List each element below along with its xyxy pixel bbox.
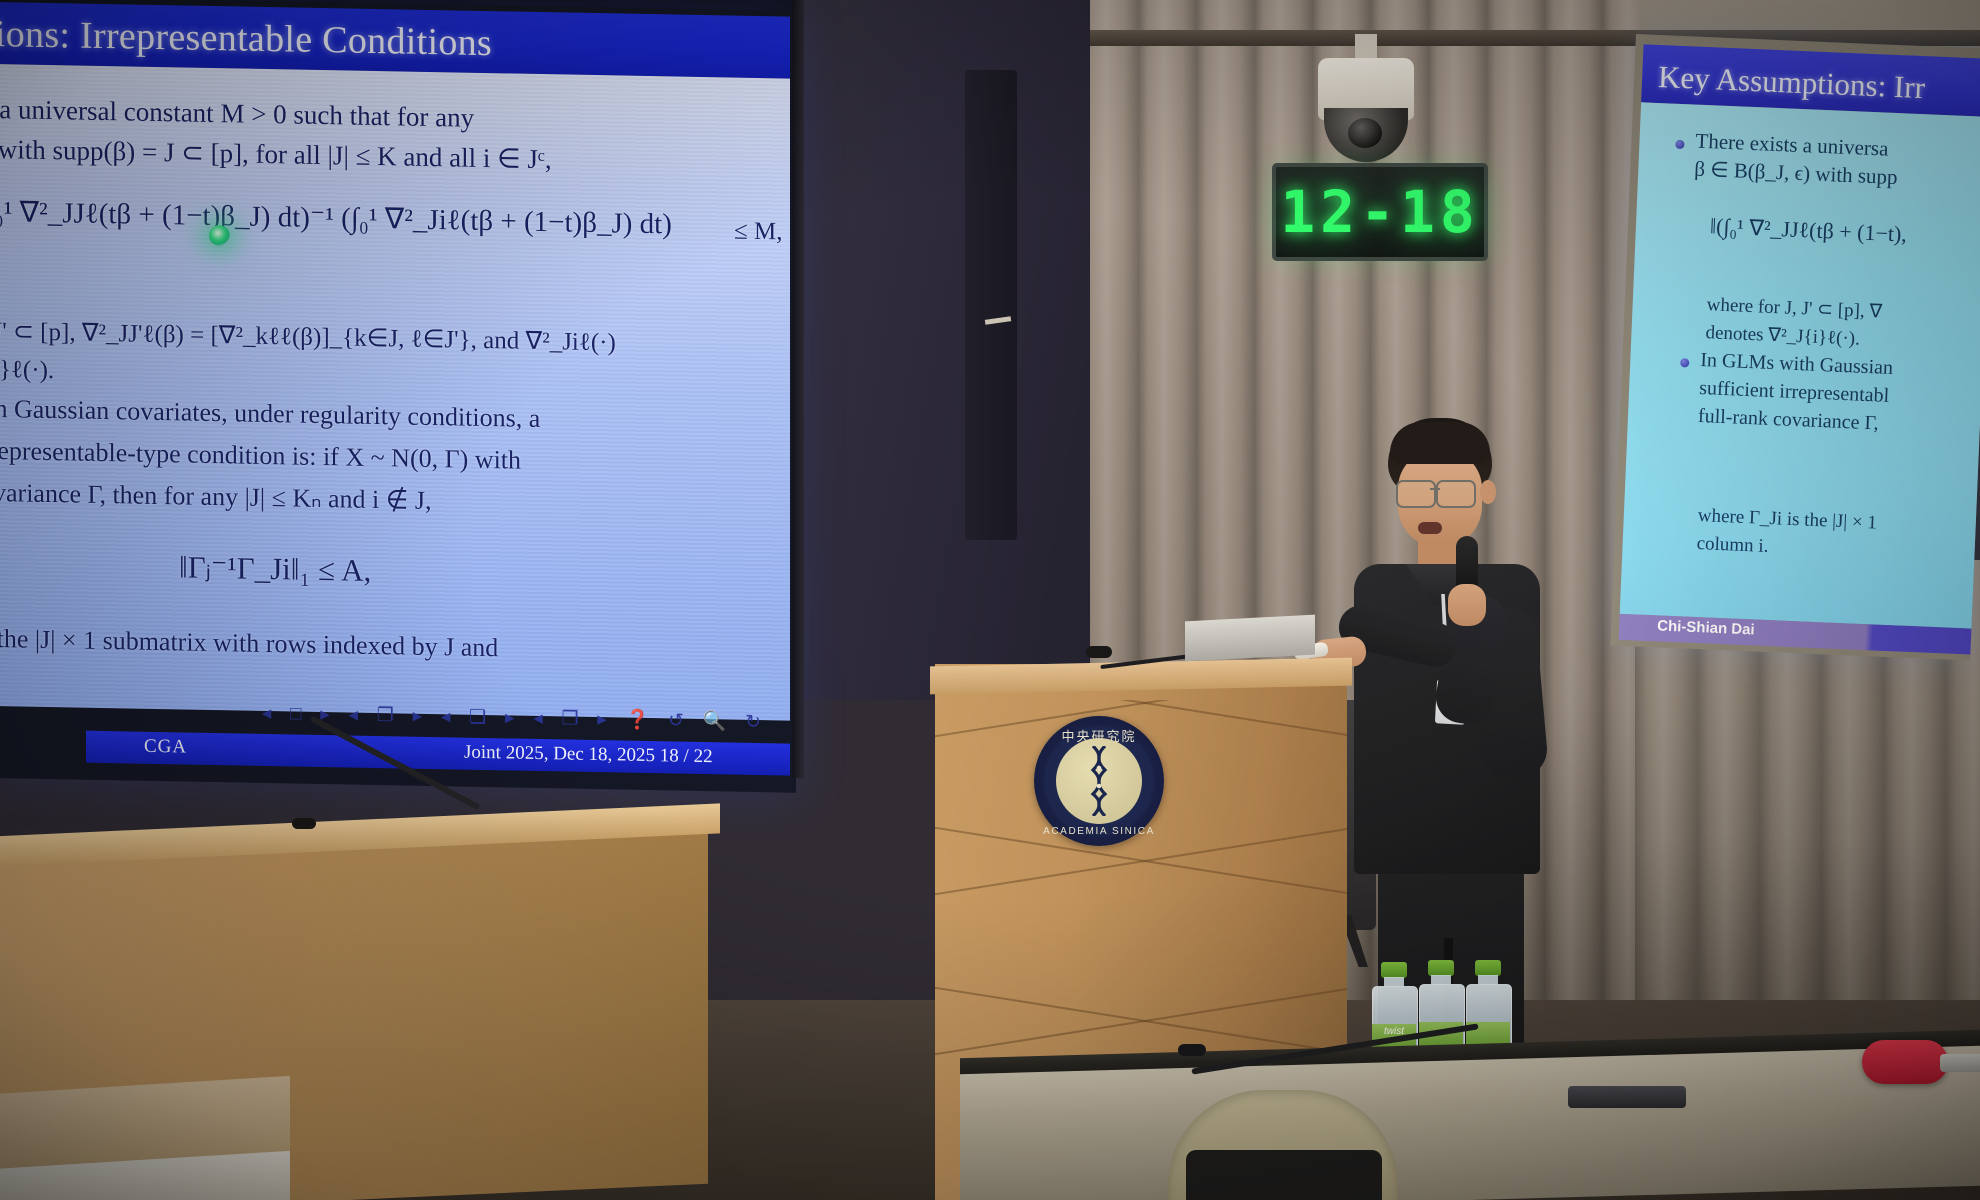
clock-digits: 12-18 xyxy=(1276,167,1484,257)
right-slide-b1-line-1: There exists a universa xyxy=(1695,129,1889,162)
bottle-cap-icon xyxy=(1381,962,1407,978)
right-slide-b2-line-3: full-rank covariance Γ, xyxy=(1698,405,1880,436)
right-slide-note-2: denotes ∇²_J{i}ℓ(·). xyxy=(1705,321,1860,350)
projection-screen-left-frame xyxy=(792,0,804,778)
right-slide-formula: ‖(∫₀¹ ∇²_JJℓ(tβ + (1−t), xyxy=(1709,213,1907,247)
emblem-latin-text: ACADEMIA SINICA xyxy=(1034,826,1164,837)
led-clock-display: 12-18 xyxy=(1272,163,1488,261)
left-slide-footer-right: Joint 2025, Dec 18, 2025 18 / 22 xyxy=(464,742,713,769)
emblem-inner-disc xyxy=(1056,738,1142,824)
right-slide-note-3: where Γ_Ji is the |J| × 1 xyxy=(1697,505,1877,534)
speaker-glasses-right-lens xyxy=(1436,480,1476,508)
left-slide-line-1: s a universal constant M > 0 such that f… xyxy=(0,94,474,134)
speaker-glasses-bridge xyxy=(1430,488,1440,490)
front-table-mic-head-icon xyxy=(1178,1044,1206,1056)
speaker-hair-front xyxy=(1390,422,1490,464)
water-bottle-2 xyxy=(1419,960,1463,1056)
wall-speaker-panel xyxy=(965,70,1017,540)
right-slide-bullet-icon-1 xyxy=(1675,140,1684,149)
projection-screen-right: Key Assumptions: Irr There exists a univ… xyxy=(1610,34,1980,661)
dna-helix-icon xyxy=(1090,746,1108,816)
bottle-cap-icon xyxy=(1475,960,1501,976)
left-slide-title: tions: Irrepresentable Conditions xyxy=(0,12,492,65)
left-slide-line-7: ovariance Γ, then for any |J| ≤ Kₙ and i… xyxy=(0,478,432,516)
left-slide-line-2: ) with supp(β) = J ⊂ [p], for all |J| ≤ … xyxy=(0,134,552,175)
right-slide-bullet-icon-2 xyxy=(1680,358,1689,367)
podium-mic-head-icon xyxy=(1086,646,1112,658)
left-slide-line-8: s the |J| × 1 submatrix with rows indexe… xyxy=(0,624,498,663)
left-slide-line-5: ith Gaussian covariates, under regularit… xyxy=(0,394,540,434)
left-slide-formula-2: ‖Γⱼ⁻¹Γ_Ji‖₁ ≤ A, xyxy=(179,549,371,589)
left-slide-body: s a universal constant M > 0 such that f… xyxy=(0,64,790,721)
speaker-mouth xyxy=(1418,522,1442,534)
right-slide-b1-line-2: β ∈ B(β_J, ϵ) with supp xyxy=(1694,157,1898,190)
right-slide-title: Key Assumptions: Irr xyxy=(1657,59,1925,106)
right-slide-b2-line-2: sufficient irrepresentabl xyxy=(1699,377,1890,408)
academia-sinica-emblem: 中央研究院 ACADEMIA SINICA xyxy=(1034,716,1164,846)
left-slide-line-6: rrepresentable-type condition is: if X ~… xyxy=(0,436,521,476)
left-slide-footer-left: CGA xyxy=(144,736,187,759)
right-slide-note-1: where for J, J' ⊂ [p], ∇ xyxy=(1706,293,1882,323)
front-table-mic-base xyxy=(1568,1086,1686,1108)
audience-chair-base xyxy=(1186,1150,1382,1200)
speaker-glasses-left-lens xyxy=(1396,480,1436,508)
bottle-cap-icon xyxy=(1428,960,1454,976)
left-slide-line-4: {i}ℓ(·). xyxy=(0,356,54,385)
speaker-left-hand xyxy=(1448,584,1486,626)
wall-dark-panel xyxy=(790,0,1090,700)
speaker-ear xyxy=(1480,480,1496,504)
water-bottle-3 xyxy=(1466,960,1510,1056)
red-microphone-body xyxy=(1940,1054,1980,1072)
projection-screen-left: tions: Irrepresentable Conditions s a un… xyxy=(0,0,796,793)
podium-laptop xyxy=(1185,615,1315,662)
left-slide-line-3: , J' ⊂ [p], ∇²_JJ'ℓ(β) = [∇²_kℓℓ(β)]_{k∈… xyxy=(0,316,616,358)
red-handheld-microphone-icon xyxy=(1862,1040,1948,1084)
table-left-mic-head-icon xyxy=(292,818,316,829)
left-slide-formula-1-tail: ≤ M, xyxy=(734,218,782,247)
left-slide-formula-1: (∫₀¹ ∇²_JJℓ(tβ + (1−t)β_J) dt)⁻¹ (∫₀¹ ∇²… xyxy=(0,194,672,242)
right-slide-b2-line-1: In GLMs with Gaussian xyxy=(1700,349,1894,380)
camera-lens-icon xyxy=(1348,118,1382,148)
lecture-hall-photo: tions: Irrepresentable Conditions s a un… xyxy=(0,0,1980,1200)
laser-pointer-dot xyxy=(209,225,230,246)
right-slide-note-4: column i. xyxy=(1696,533,1769,558)
handheld-microphone-icon xyxy=(1456,536,1478,590)
right-slide-body: There exists a universa β ∈ B(β_J, ϵ) wi… xyxy=(1620,102,1980,628)
